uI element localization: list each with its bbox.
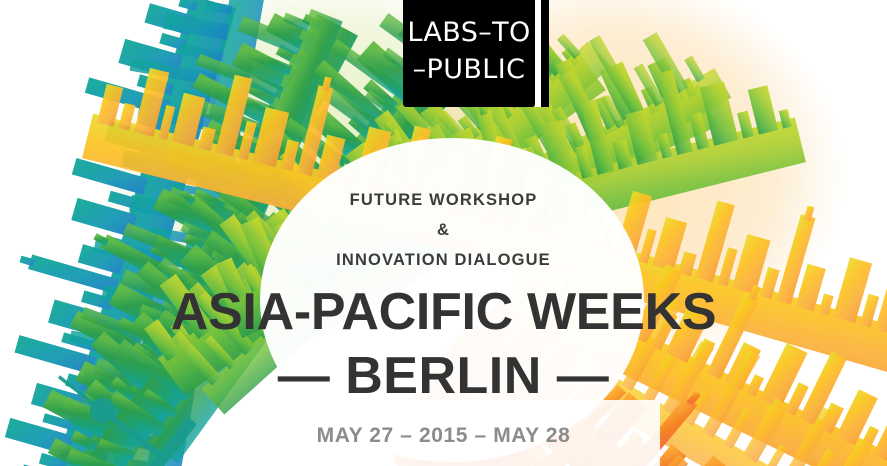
logo-line-1: LABS–TO — [403, 19, 535, 46]
logo-line-2: –PUBLIC — [403, 56, 535, 83]
logo-accent-stripe — [541, 0, 549, 107]
labs-to-public-logo: LABS–TO –PUBLIC — [403, 0, 535, 107]
poster-canvas: LABS–TO –PUBLIC FUTURE WORKSHOP & INNOVA… — [0, 0, 887, 466]
